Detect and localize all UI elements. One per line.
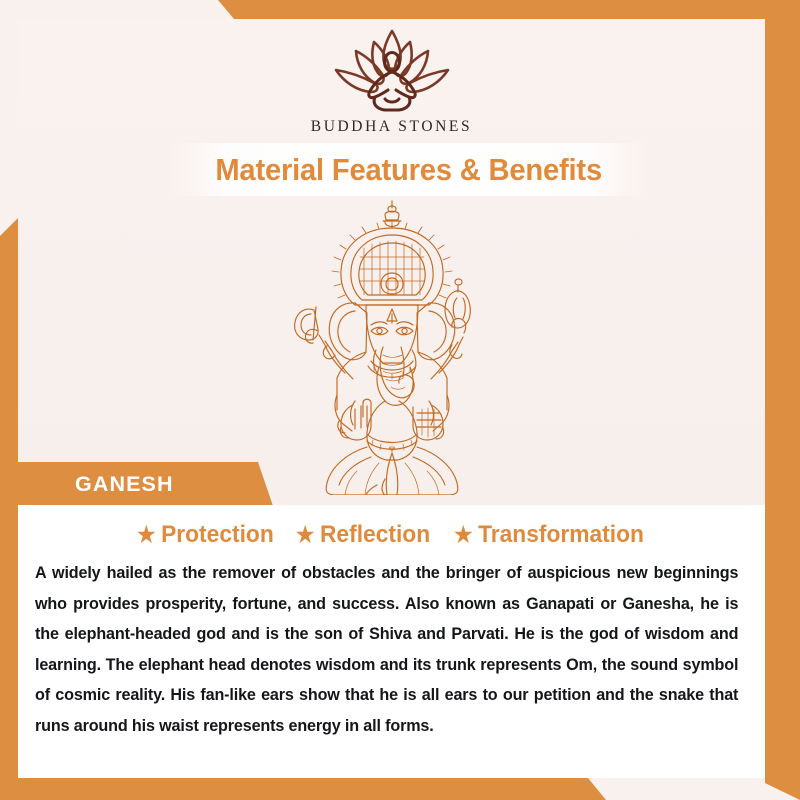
frame-border-top	[0, 0, 800, 19]
deity-illustration	[18, 195, 765, 507]
brand-logo: BUDDHA STONES	[18, 25, 765, 136]
page-title-band: Material Features & Benefits	[171, 143, 647, 196]
ganesh-line-art-icon	[267, 195, 517, 495]
frame-border-bottom	[0, 778, 800, 800]
description-text: A widely hailed as the remover of obstac…	[35, 558, 738, 741]
frame-border-left	[0, 0, 18, 800]
lotus-meditation-icon	[325, 25, 459, 115]
benefit-item-protection: ★ Protection	[132, 521, 280, 549]
frame-border-right	[765, 0, 800, 800]
benefit-label: Protection	[161, 521, 274, 549]
brand-name: BUDDHA STONES	[311, 118, 472, 136]
star-icon: ★	[138, 524, 156, 546]
benefit-label: Reflection	[320, 521, 430, 549]
star-icon: ★	[455, 524, 473, 546]
description-card: ★ Protection ★ Reflection ★ Transformati…	[18, 505, 765, 778]
deity-name-label: GANESH	[75, 472, 174, 497]
benefit-item-transformation: ★ Transformation	[449, 521, 650, 549]
poster-root: BUDDHA STONES Material Features & Benefi…	[0, 0, 800, 800]
benefit-item-reflection: ★ Reflection	[291, 521, 436, 549]
star-icon: ★	[296, 524, 314, 546]
page-title: Material Features & Benefits	[216, 152, 603, 188]
benefit-label: Transformation	[479, 521, 645, 549]
deity-name-ribbon: GANESH	[18, 462, 273, 506]
benefits-list: ★ Protection ★ Reflection ★ Transformati…	[35, 521, 749, 549]
